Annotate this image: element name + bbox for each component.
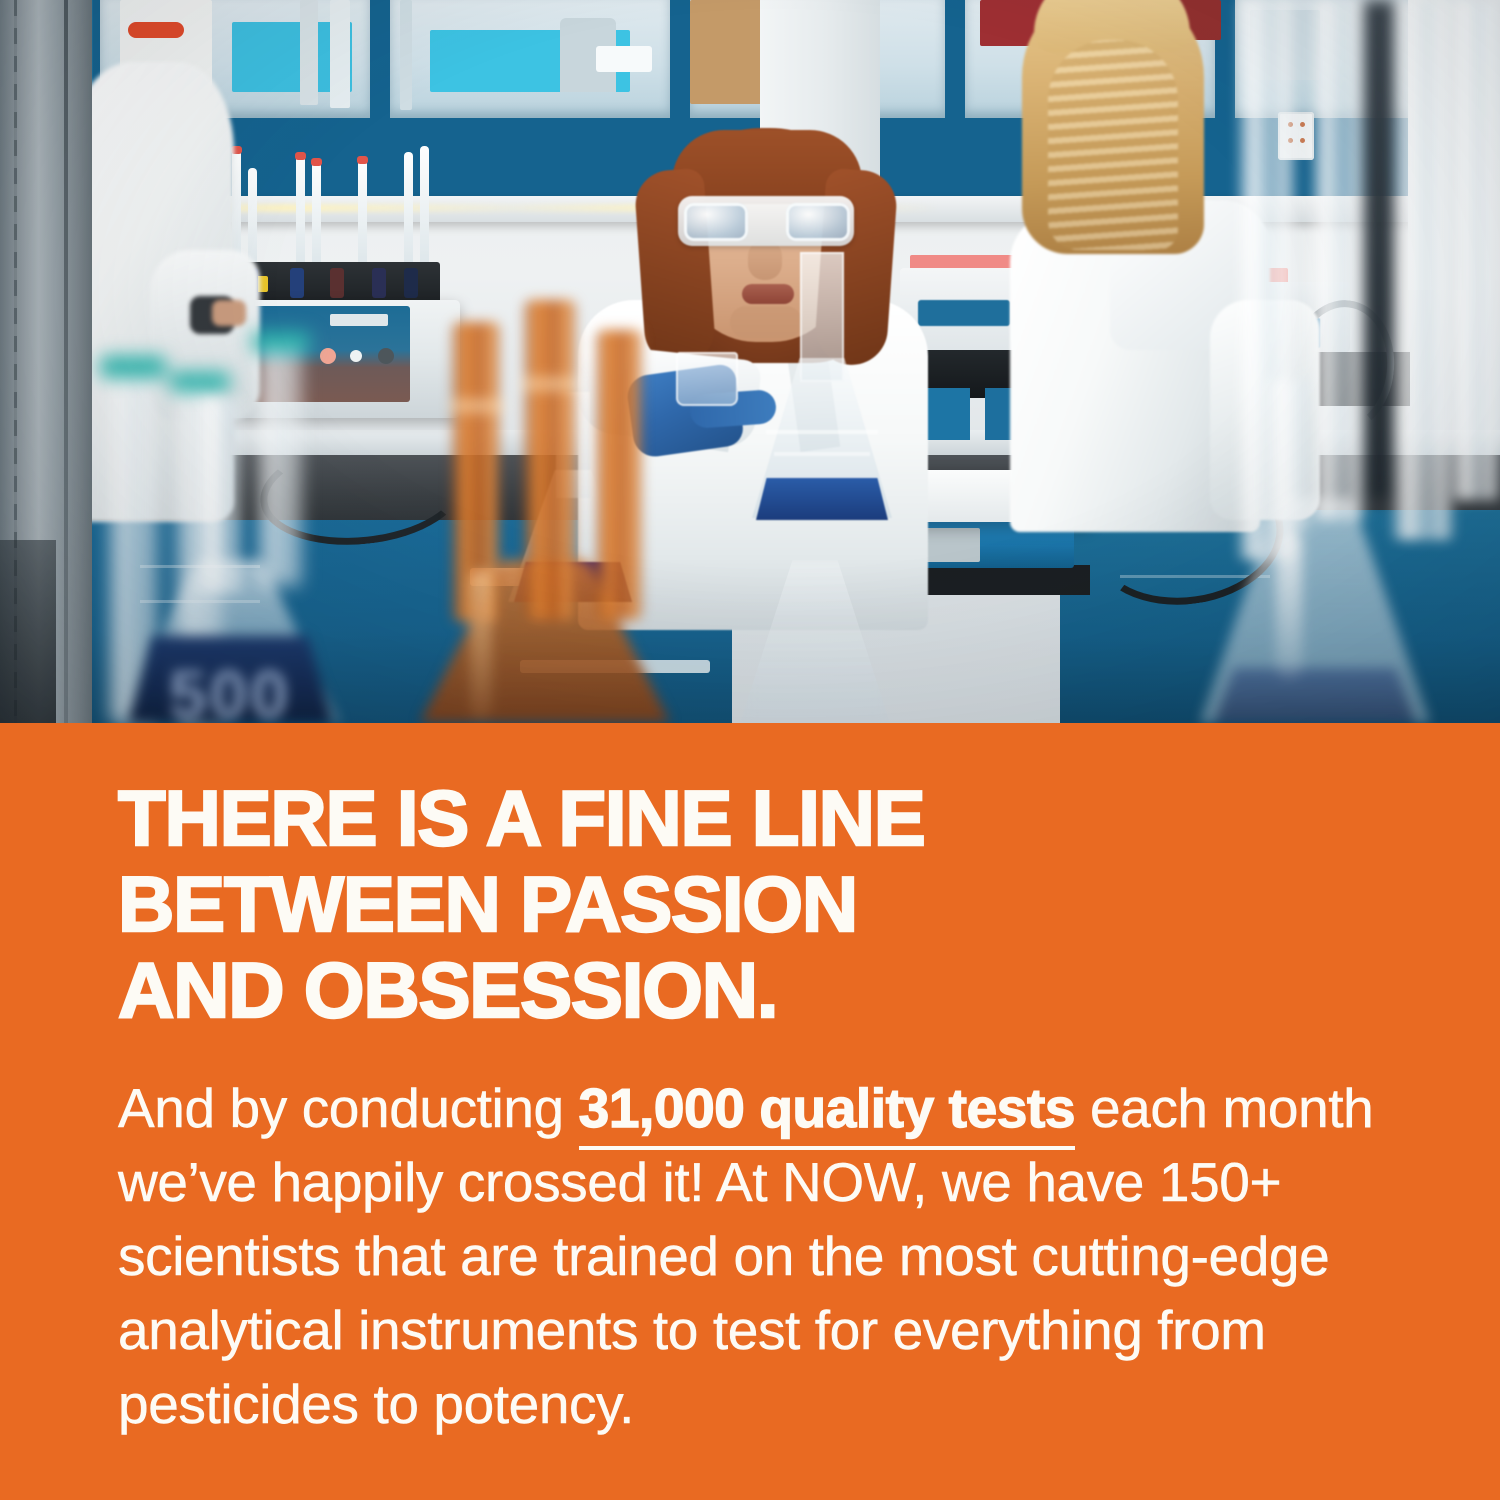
- sample-vial: [372, 268, 386, 298]
- headline-line-3: AND OBSESSION.: [118, 947, 1418, 1033]
- graduated-cylinder: [258, 336, 302, 586]
- outlet-dot: [1300, 122, 1305, 127]
- flask-collar: [450, 398, 504, 414]
- flask-solution: [1214, 668, 1416, 723]
- goggle-lens-right: [786, 203, 850, 241]
- test-tube: [404, 152, 413, 268]
- flask-graduation: [774, 452, 870, 456]
- glass-cylinder: [1312, 0, 1366, 520]
- cabinet-item-cylinder: [400, 0, 412, 110]
- small-beaker: [676, 352, 738, 406]
- cabinet-item-label: [128, 22, 184, 38]
- chin: [730, 306, 802, 338]
- cabinet-item-cylinder: [330, 0, 350, 108]
- cylinder-teal-cap: [170, 372, 230, 392]
- flask-highlight: [1276, 530, 1302, 680]
- scientist-right-hair-strands: [1048, 40, 1178, 250]
- amber-flask-highlight: [470, 570, 492, 720]
- tube-cap: [357, 156, 368, 164]
- cabinet-item-tray: [596, 46, 652, 72]
- goggle-lens-left: [684, 203, 748, 241]
- mouth: [742, 284, 794, 304]
- instrument-logo: [918, 300, 1010, 326]
- tube-cap: [295, 152, 306, 160]
- hero-lab-photo: 500: [0, 0, 1500, 723]
- glass-cylinder: [1452, 0, 1500, 500]
- instrument-display: [330, 314, 388, 326]
- test-tube: [248, 168, 257, 268]
- headline-line-2: BETWEEN PASSION: [118, 861, 1418, 947]
- test-tube: [296, 156, 305, 268]
- instrument-knob: [320, 348, 336, 364]
- test-tube: [420, 146, 429, 268]
- glass-cylinder: [1392, 0, 1454, 540]
- tube-cap: [311, 158, 322, 166]
- headline-line-1: THERE IS A FINE LINE: [118, 775, 1418, 861]
- flask-graduation: [766, 430, 878, 434]
- instrument-knob: [378, 348, 394, 364]
- sample-vial: [330, 268, 344, 298]
- amber-flask-neck: [596, 330, 642, 620]
- sample-vial: [404, 268, 418, 298]
- flask-volume-label: 500: [150, 660, 310, 723]
- cylinder-teal-cap: [252, 332, 310, 352]
- cylinder-teal-cap: [100, 356, 166, 378]
- sample-vial: [290, 268, 304, 298]
- frame-shadow: [0, 540, 56, 723]
- frame-groove: [64, 0, 68, 723]
- dark-instrument-column: [1362, 0, 1396, 500]
- page-title: THERE IS A FINE LINE BETWEEN PASSION AND…: [118, 775, 1418, 1033]
- cabinet-item-cylinder: [300, 0, 318, 105]
- test-tube: [358, 160, 367, 268]
- blue-solution: [756, 478, 888, 520]
- body-copy: And by conducting 31,000 quality tests e…: [118, 1071, 1388, 1441]
- body-text-before: And by conducting: [118, 1077, 579, 1139]
- outlet-dot: [1300, 138, 1305, 143]
- test-tube: [312, 162, 321, 268]
- quality-tests-stat: 31,000 quality tests: [579, 1077, 1075, 1150]
- amber-flask-neck: [524, 300, 576, 620]
- instrument-knob: [350, 350, 362, 362]
- flask-collar: [522, 376, 576, 392]
- orange-message-panel: THERE IS A FINE LINE BETWEEN PASSION AND…: [0, 723, 1500, 1500]
- marketing-ad-card: 500: [0, 0, 1500, 1500]
- nose: [748, 240, 782, 280]
- scientist-left-hand: [212, 300, 246, 326]
